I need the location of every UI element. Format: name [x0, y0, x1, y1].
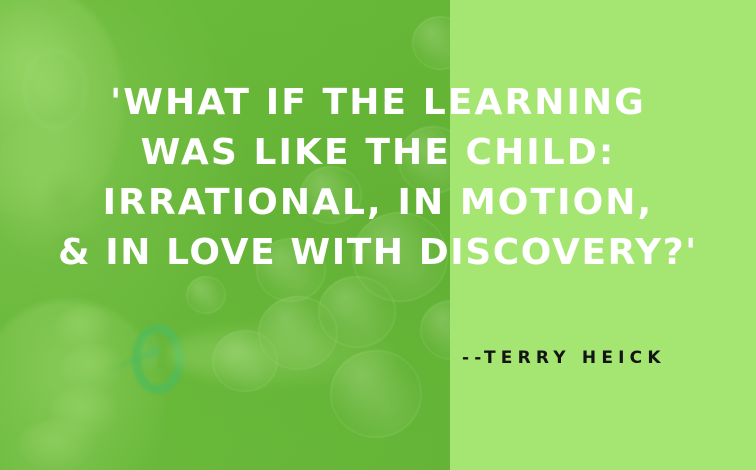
quote-line-2: WAS LIKE THE CHILD: [0, 128, 756, 178]
quote-attribution: --TERRY HEICK [462, 348, 666, 368]
quote-line-1: 'WHAT IF THE LEARNING [0, 78, 756, 128]
quote-text: 'WHAT IF THE LEARNING WAS LIKE THE CHILD… [0, 78, 756, 278]
quote-line-4: & IN LOVE WITH DISCOVERY?' [0, 228, 756, 278]
quote-poster: 'WHAT IF THE LEARNING WAS LIKE THE CHILD… [0, 0, 756, 470]
quote-line-3: IRRATIONAL, IN MOTION, [0, 178, 756, 228]
